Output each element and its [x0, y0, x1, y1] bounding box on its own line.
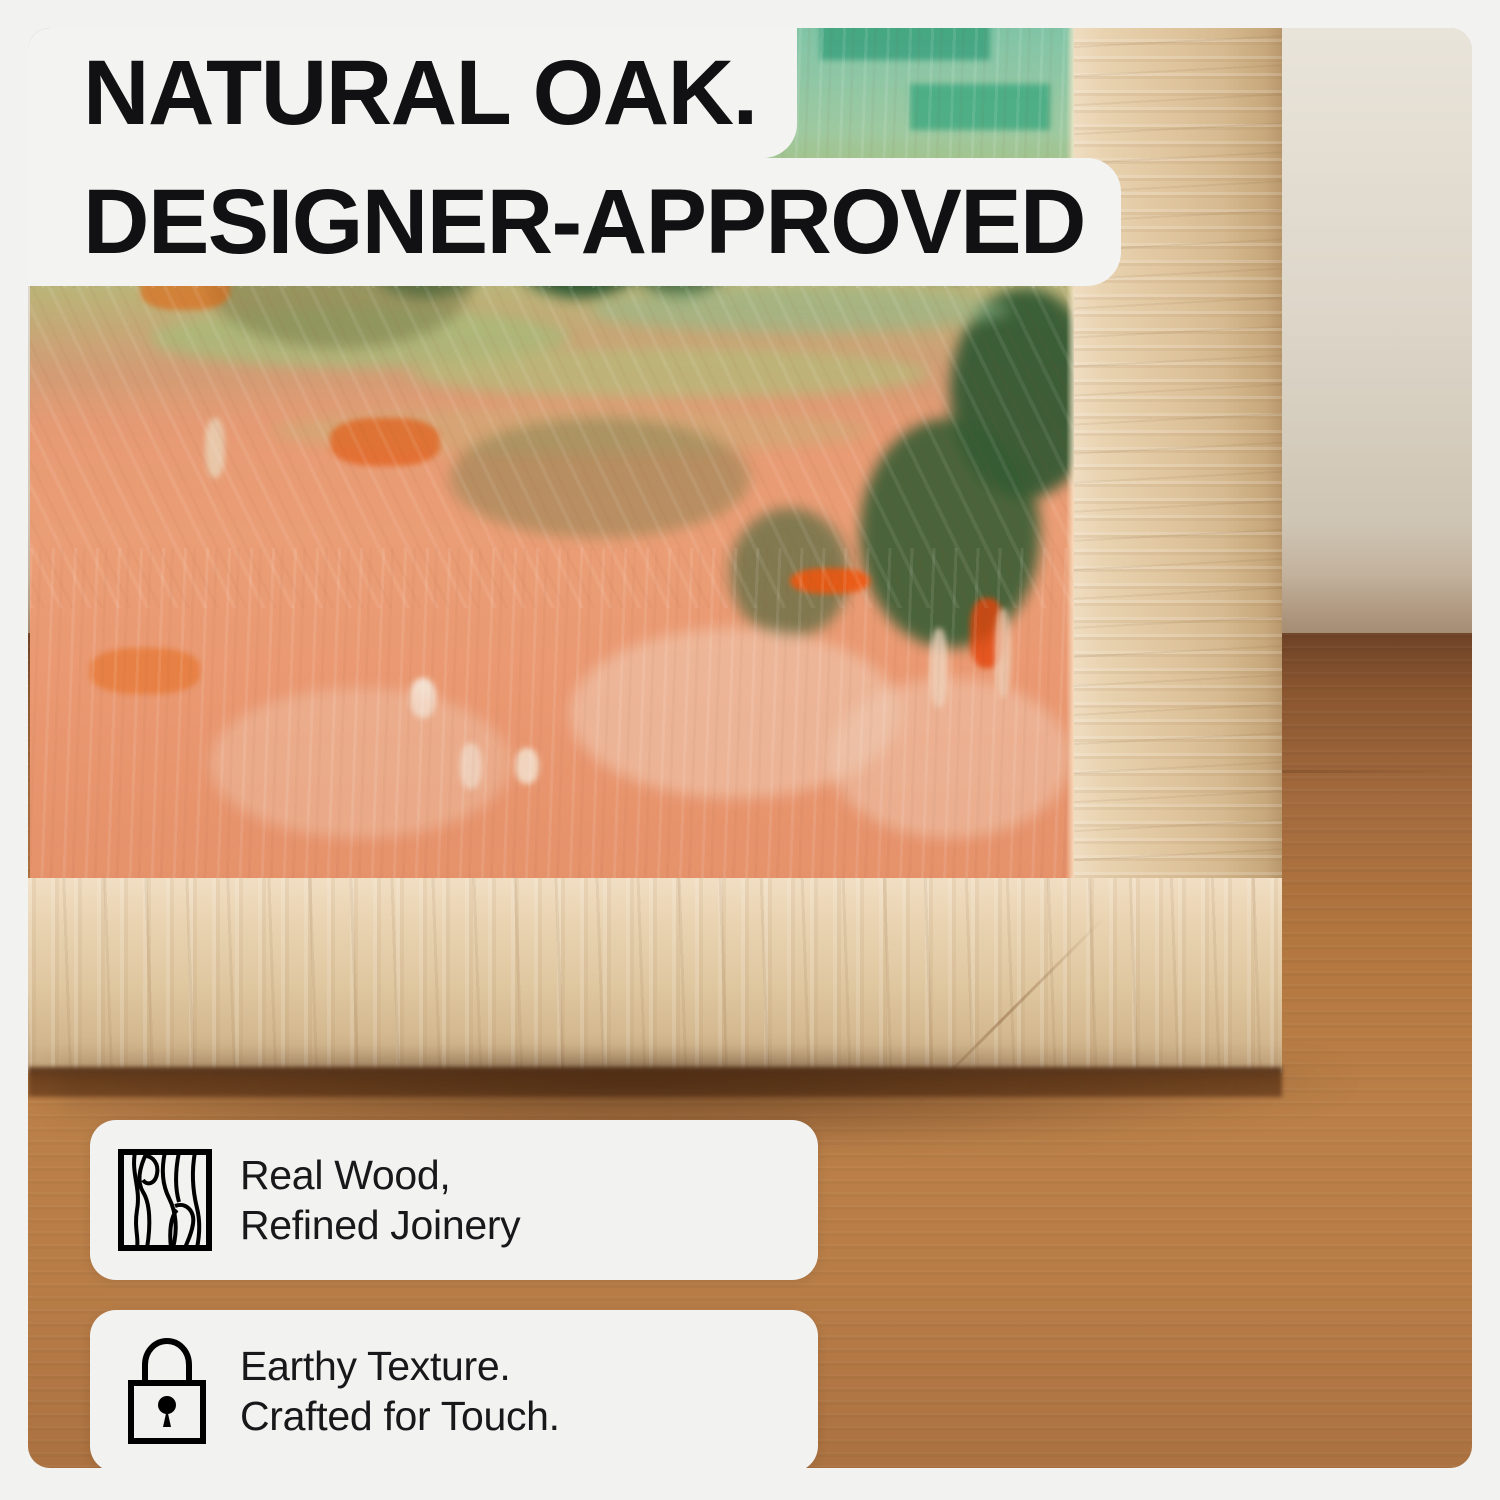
feature-2-line1: Earthy Texture. [240, 1343, 511, 1389]
feature-badge-earthy-texture: Earthy Texture. Crafted for Touch. [90, 1310, 818, 1468]
feature-1-line1: Real Wood, [240, 1152, 450, 1198]
padlock-icon [90, 1335, 240, 1447]
feature-badge-1-text: Real Wood, Refined Joinery [240, 1150, 520, 1250]
feature-badge-real-wood: Real Wood, Refined Joinery [90, 1120, 818, 1280]
feature-2-line2: Crafted for Touch. [240, 1391, 560, 1441]
wood-grain-icon [90, 1148, 240, 1252]
feature-1-line2: Refined Joinery [240, 1200, 520, 1250]
art-brush-texture [30, 548, 1078, 888]
feature-badge-2-text: Earthy Texture. Crafted for Touch. [240, 1341, 560, 1441]
frame-rail-bottom [28, 878, 1282, 1073]
oak-grain-horizontal-fine [28, 878, 1282, 1073]
headline-line1: NATURAL OAK. [83, 47, 757, 139]
headline-block-line1: NATURAL OAK. [28, 28, 797, 158]
headline-block-line2: DESIGNER-APPROVED [28, 158, 1121, 286]
product-photo: NATURAL OAK. DESIGNER-APPROVED Real Wood… [28, 28, 1472, 1468]
headline-line2: DESIGNER-APPROVED [83, 176, 1085, 268]
